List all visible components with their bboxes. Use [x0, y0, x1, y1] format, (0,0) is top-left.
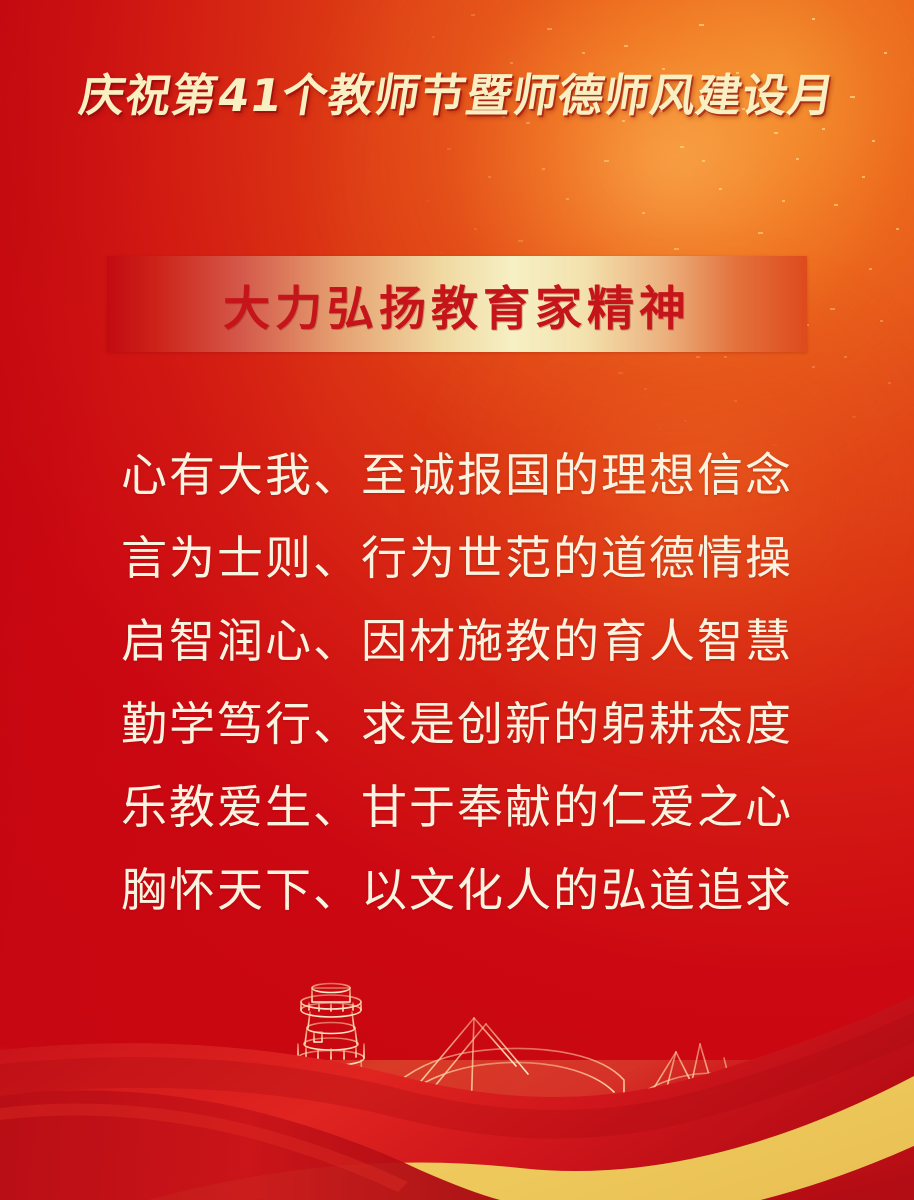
spirit-line: 勤学笃行、求是创新的躬耕态度 — [0, 683, 914, 766]
poster-title-text: 庆祝第41个教师节暨师德师风建设月 — [76, 72, 838, 119]
spirit-line: 心有大我、至诚报国的理想信念 — [0, 434, 914, 517]
spirit-line: 启智润心、因材施教的育人智慧 — [0, 600, 914, 683]
poster-title: 庆祝第41个教师节暨师德师风建设月 — [0, 72, 914, 119]
spirit-line: 乐教爱生、甘于奉献的仁爱之心 — [0, 766, 914, 849]
headline-banner-text: 大力弘扬教育家精神 — [223, 270, 691, 339]
headline-banner: 大力弘扬教育家精神 — [107, 256, 807, 352]
spirit-line: 言为士则、行为世范的道德情操 — [0, 517, 914, 600]
spirit-lines-block: 心有大我、至诚报国的理想信念 言为士则、行为世范的道德情操 启智润心、因材施教的… — [0, 434, 914, 932]
poster-canvas: 庆祝第41个教师节暨师德师风建设月 大力弘扬教育家精神 心有大我、至诚报国的理想… — [0, 0, 914, 1200]
spirit-line: 胸怀天下、以文化人的弘道追求 — [0, 849, 914, 932]
